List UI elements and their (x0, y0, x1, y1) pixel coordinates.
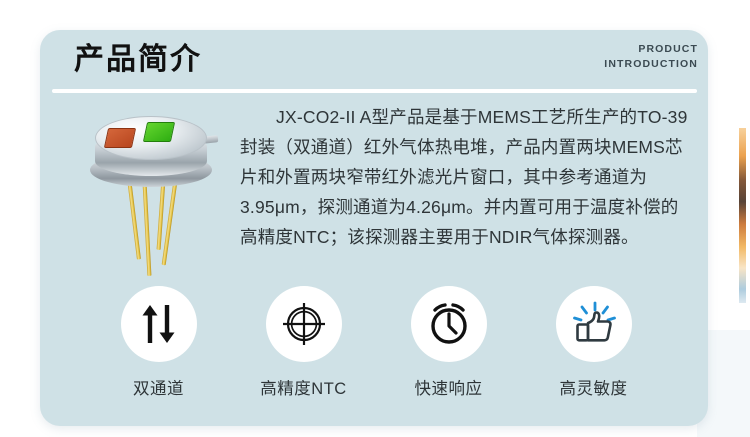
feature-label: 双通道 (133, 375, 184, 399)
to-39-thermopile-sensor-image (62, 98, 242, 278)
feature-row: 双通道 高精度NTC 快速响 (86, 286, 666, 414)
header-subtitle-line2: INTRODUCTION (468, 57, 698, 72)
title-divider (52, 89, 697, 93)
feature-item-ntc[interactable]: 高精度NTC (231, 286, 376, 399)
feature-icon-circle (556, 286, 632, 362)
header-subtitle: PRODUCT INTRODUCTION (468, 42, 698, 72)
page-title: 产品简介 (74, 40, 202, 80)
feature-item-high-sensitivity[interactable]: 高灵敏度 (521, 286, 666, 399)
header-subtitle-line1: PRODUCT (468, 42, 698, 57)
feature-icon-circle (121, 286, 197, 362)
feature-icon-circle (411, 286, 487, 362)
feature-item-dual-channel[interactable]: 双通道 (86, 286, 231, 399)
crosshair-target-icon (280, 300, 328, 348)
reference-channel-filter-window (104, 128, 136, 148)
sensor-pin (142, 172, 151, 276)
product-body-row: JX-CO2-II A型产品是基于MEMS工艺所生产的TO-39封装（双通道）红… (40, 96, 708, 286)
adjacent-image-right-edge (739, 128, 746, 303)
thumbs-up-icon (569, 299, 619, 349)
feature-label: 高精度NTC (260, 375, 346, 399)
product-description: JX-CO2-II A型产品是基于MEMS工艺所生产的TO-39封装（双通道）红… (240, 102, 695, 252)
feature-item-fast-response[interactable]: 快速响应 (376, 286, 521, 399)
up-down-arrows-icon (136, 301, 182, 347)
feature-label: 高灵敏度 (560, 375, 628, 399)
feature-label: 快速响应 (415, 375, 483, 399)
product-introduction-panel: 产品简介 PRODUCT INTRODUCTION JX-CO2-II A型产品… (40, 30, 708, 426)
alarm-clock-icon (425, 300, 473, 348)
feature-icon-circle (266, 286, 342, 362)
panel-header: 产品简介 PRODUCT INTRODUCTION (40, 30, 708, 96)
detection-channel-filter-window (143, 122, 175, 142)
